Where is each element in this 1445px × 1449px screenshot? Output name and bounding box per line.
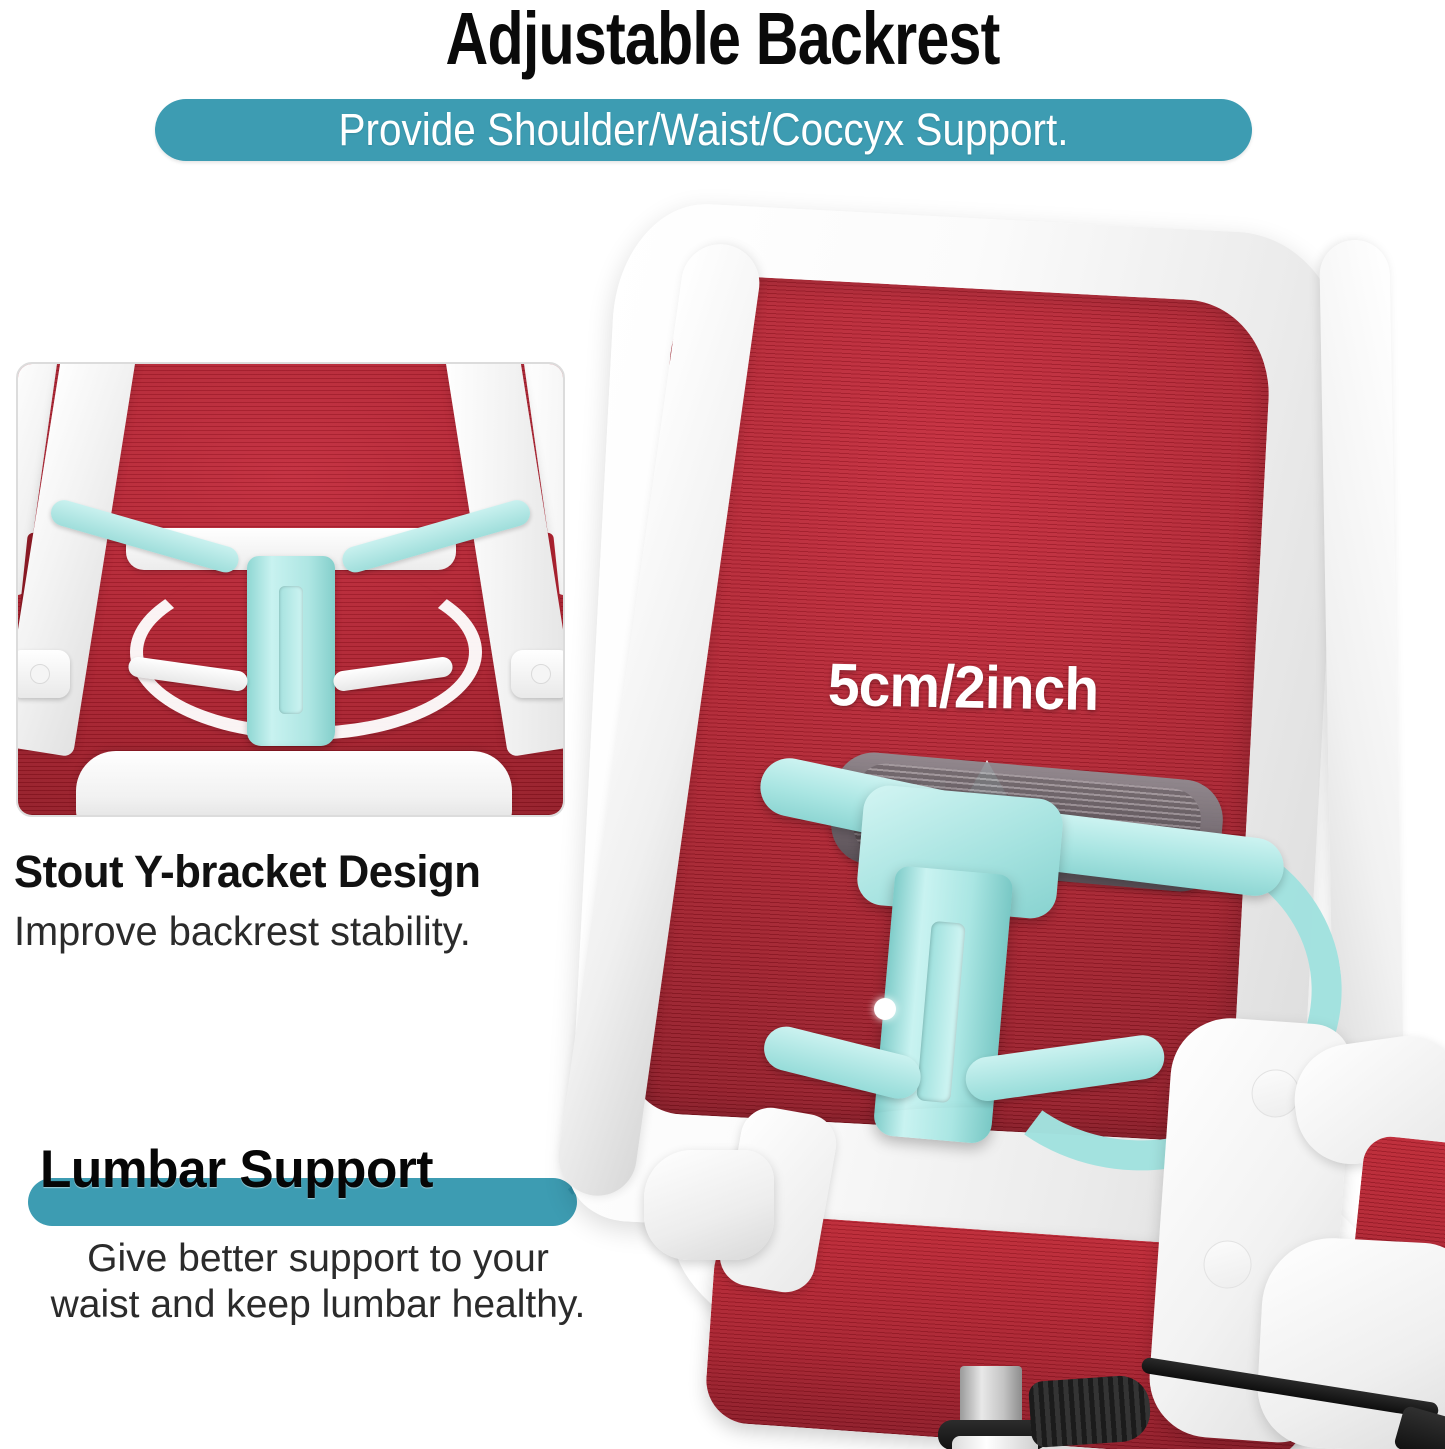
screw-icon — [1250, 1068, 1301, 1119]
feature-heading-lumbar-support: Lumbar Support — [40, 1139, 433, 1200]
tilt-tension-knob — [1028, 1374, 1152, 1448]
leader-anchor-dot — [874, 998, 896, 1020]
infographic-page: Adjustable Backrest Provide Shoulder/Wai… — [0, 0, 1445, 1449]
inset-screw-icon — [531, 664, 551, 684]
cylinder-base — [952, 1436, 1038, 1449]
measurement-label: 5cm/2inch — [827, 650, 1098, 724]
inset-screw-icon — [30, 664, 50, 684]
page-title: Adjustable Backrest — [145, 2, 1301, 76]
feature-description-lumbar-support: Give better support to your waist and ke… — [38, 1236, 598, 1328]
chair-illustration: 5cm/2inch — [560, 180, 1445, 1449]
inset-bracket-groove — [279, 586, 303, 714]
inset-pivot-knob-left — [16, 650, 70, 698]
inset-pivot-knob-right — [511, 650, 565, 698]
screw-icon — [1202, 1239, 1253, 1290]
feature-description-y-bracket: Improve backrest stability. — [14, 908, 471, 955]
detail-inset-panel — [16, 362, 565, 817]
feature-heading-y-bracket: Stout Y-bracket Design — [14, 846, 480, 898]
backrest-pivot-knob-left — [644, 1150, 774, 1260]
inset-lower-frame — [76, 751, 512, 817]
page-subtitle: Provide Shoulder/Waist/Coccyx Support. — [210, 99, 1197, 161]
